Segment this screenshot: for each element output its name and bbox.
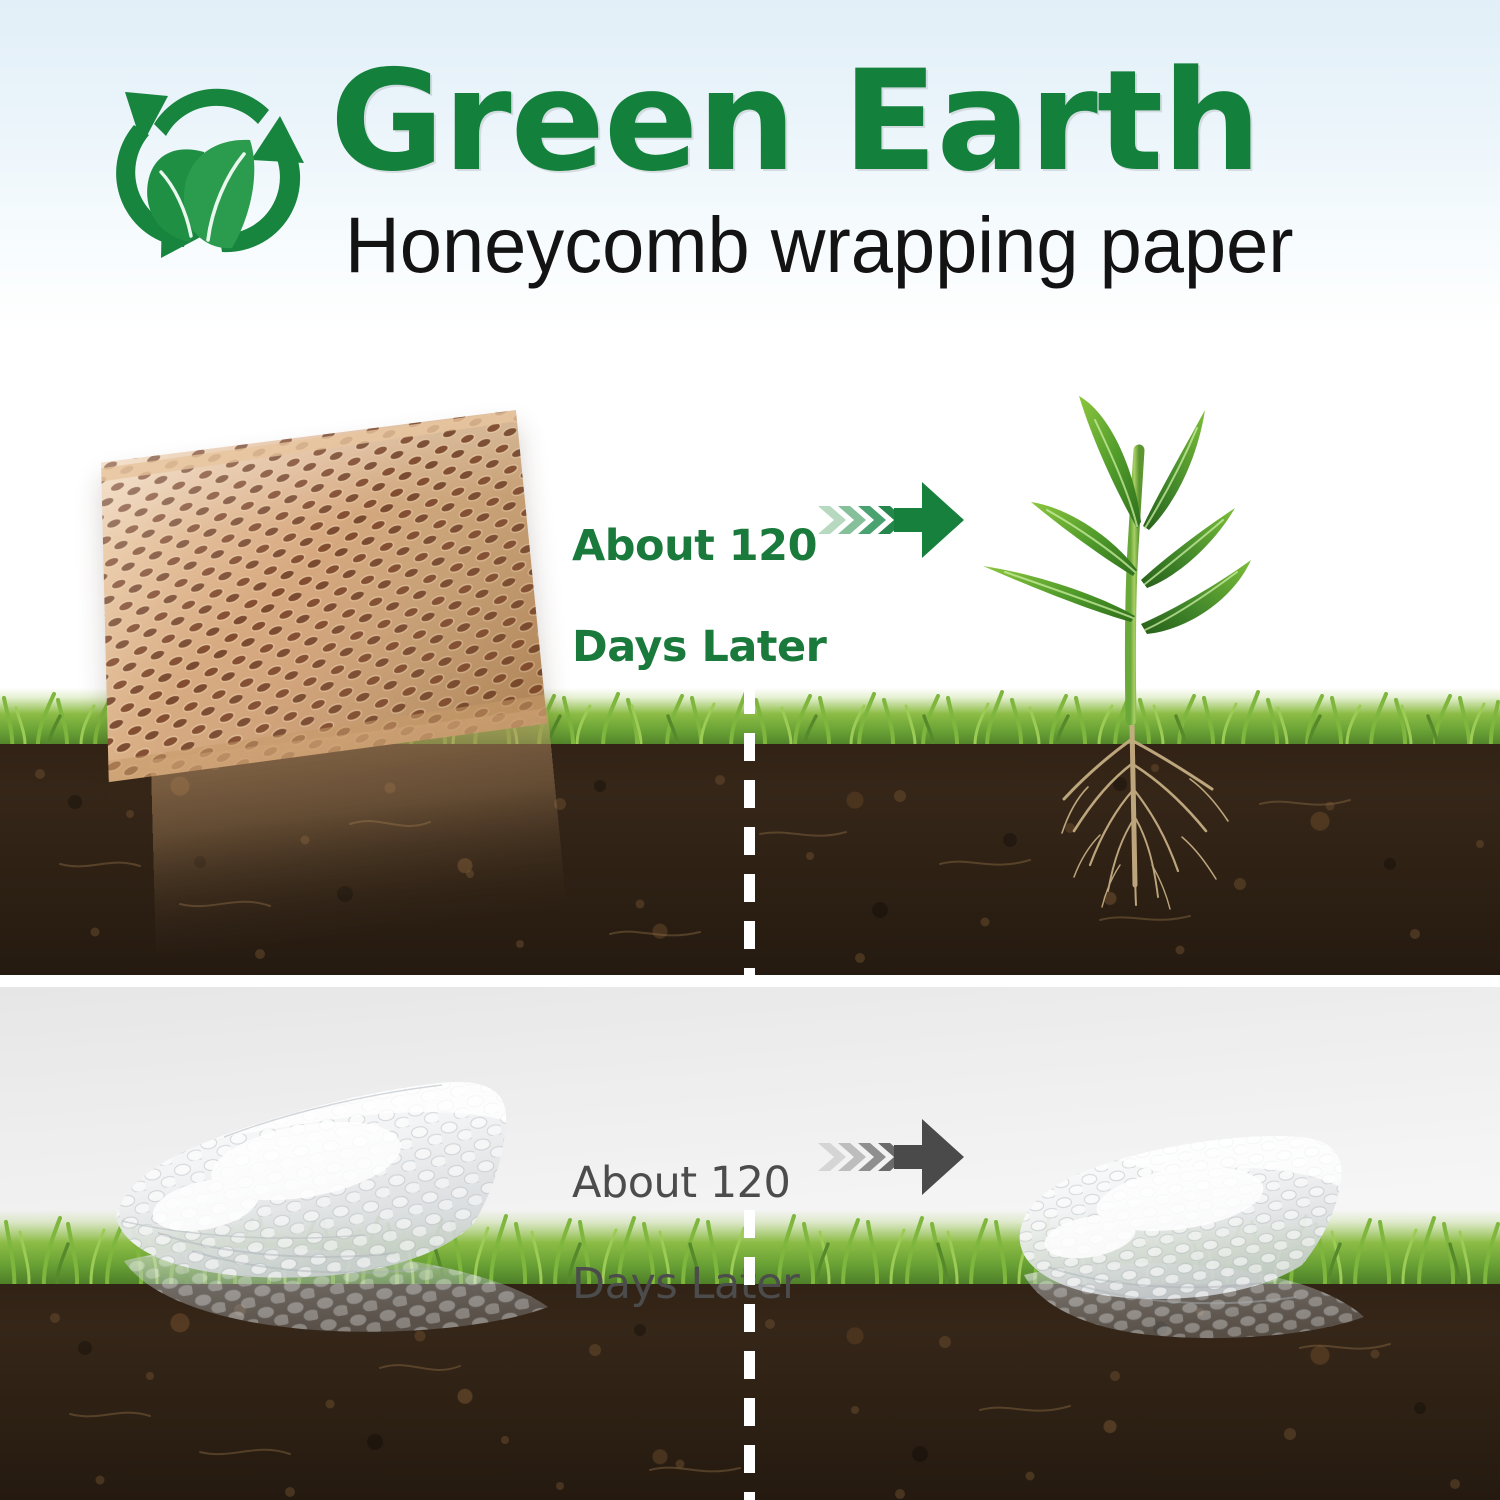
panel-biodegradable-honeycomb: About 120 Days Later (0, 330, 1500, 978)
product-infographic: Green Earth Honeycomb wrapping paper (0, 0, 1500, 1500)
dashed-vertical-divider-bottom (744, 1210, 755, 1500)
dashed-vertical-divider-top (744, 686, 755, 978)
plastic-bubble-wrap-before (96, 1065, 566, 1365)
header-banner: Green Earth Honeycomb wrapping paper (0, 0, 1500, 330)
label-number-top: 120 (729, 521, 817, 571)
plastic-bubble-wrap-after (990, 1125, 1390, 1375)
right-arrow-with-chevrons-icon-top (816, 472, 966, 568)
brand-title: Green Earth (330, 52, 1260, 191)
label-prefix-bottom: About (572, 1158, 710, 1208)
green-seedling-plant (975, 380, 1325, 725)
plant-root-system (1040, 725, 1310, 915)
transition-label-bottom: About 120 Days Later (572, 1107, 962, 1217)
kraft-honeycomb-wrapping-paper (104, 430, 534, 750)
recycle-leaf-logo-icon (98, 62, 318, 277)
label-line2-bottom: Days Later (572, 1259, 799, 1309)
right-arrow-with-chevrons-icon-bottom (816, 1109, 966, 1205)
brand-subtitle: Honeycomb wrapping paper (345, 205, 1294, 284)
panel-plastic-bubble-wrap: About 120 Days Later (0, 985, 1500, 1500)
transition-label-top: About 120 Days Later (572, 470, 962, 580)
label-prefix-top: About (572, 521, 729, 571)
label-number-bottom: 120 (710, 1158, 791, 1208)
panel-separator (0, 975, 1500, 987)
label-line2-top: Days Later (572, 622, 826, 672)
